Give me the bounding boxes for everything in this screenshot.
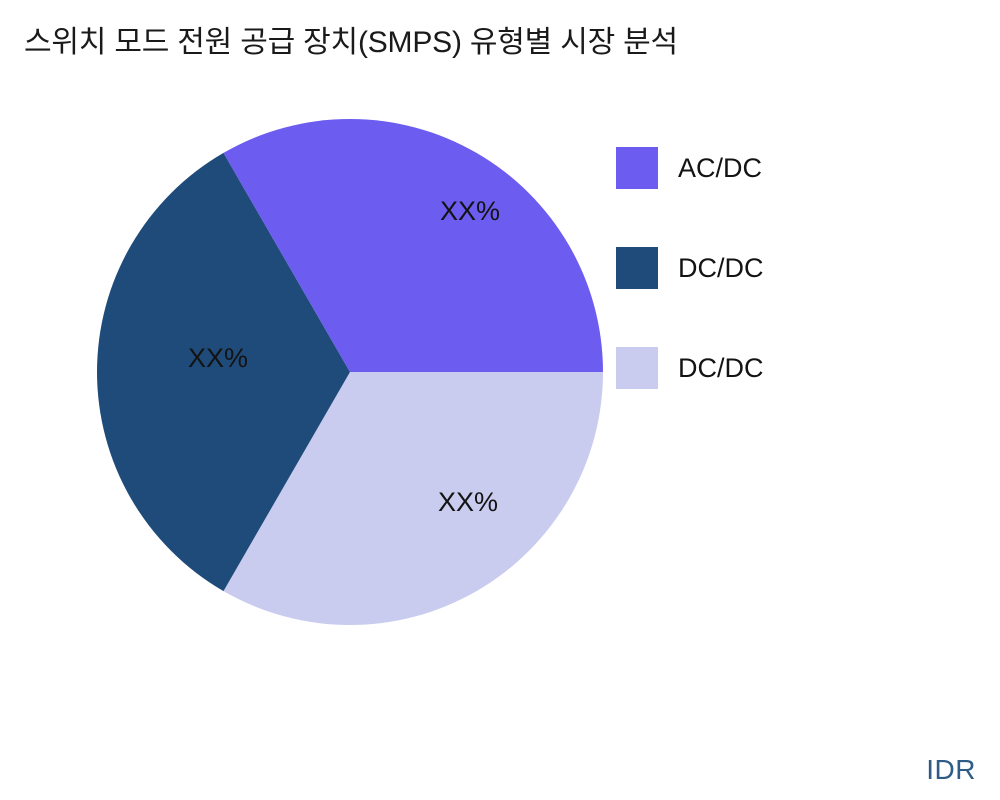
pie-label-dcdc-light: XX% [440, 196, 500, 226]
legend-item-acdc[interactable]: AC/DC [616, 118, 956, 218]
legend-swatch-dcdc-dark [616, 247, 658, 289]
pie-label-acdc: XX% [438, 487, 498, 517]
pie-label-dcdc-dark: XX% [188, 343, 248, 373]
legend-label-dcdc-light: DC/DC [678, 355, 764, 382]
pie-chart-svg: XX% XX% XX% [90, 110, 615, 635]
pie-chart: XX% XX% XX% [90, 110, 615, 635]
legend: AC/DC DC/DC DC/DC [616, 118, 956, 418]
chart-figure: 스위치 모드 전원 공급 장치(SMPS) 유형별 시장 분석 XX% XX% … [0, 0, 1000, 800]
legend-label-acdc: AC/DC [678, 155, 762, 182]
legend-swatch-dcdc-light [616, 347, 658, 389]
legend-item-dcdc-light[interactable]: DC/DC [616, 318, 956, 418]
watermark-idr: IDR [926, 754, 976, 786]
page-title: 스위치 모드 전원 공급 장치(SMPS) 유형별 시장 분석 [24, 24, 964, 62]
legend-item-dcdc-dark[interactable]: DC/DC [616, 218, 956, 318]
legend-swatch-acdc [616, 147, 658, 189]
legend-label-dcdc-dark: DC/DC [678, 255, 764, 282]
